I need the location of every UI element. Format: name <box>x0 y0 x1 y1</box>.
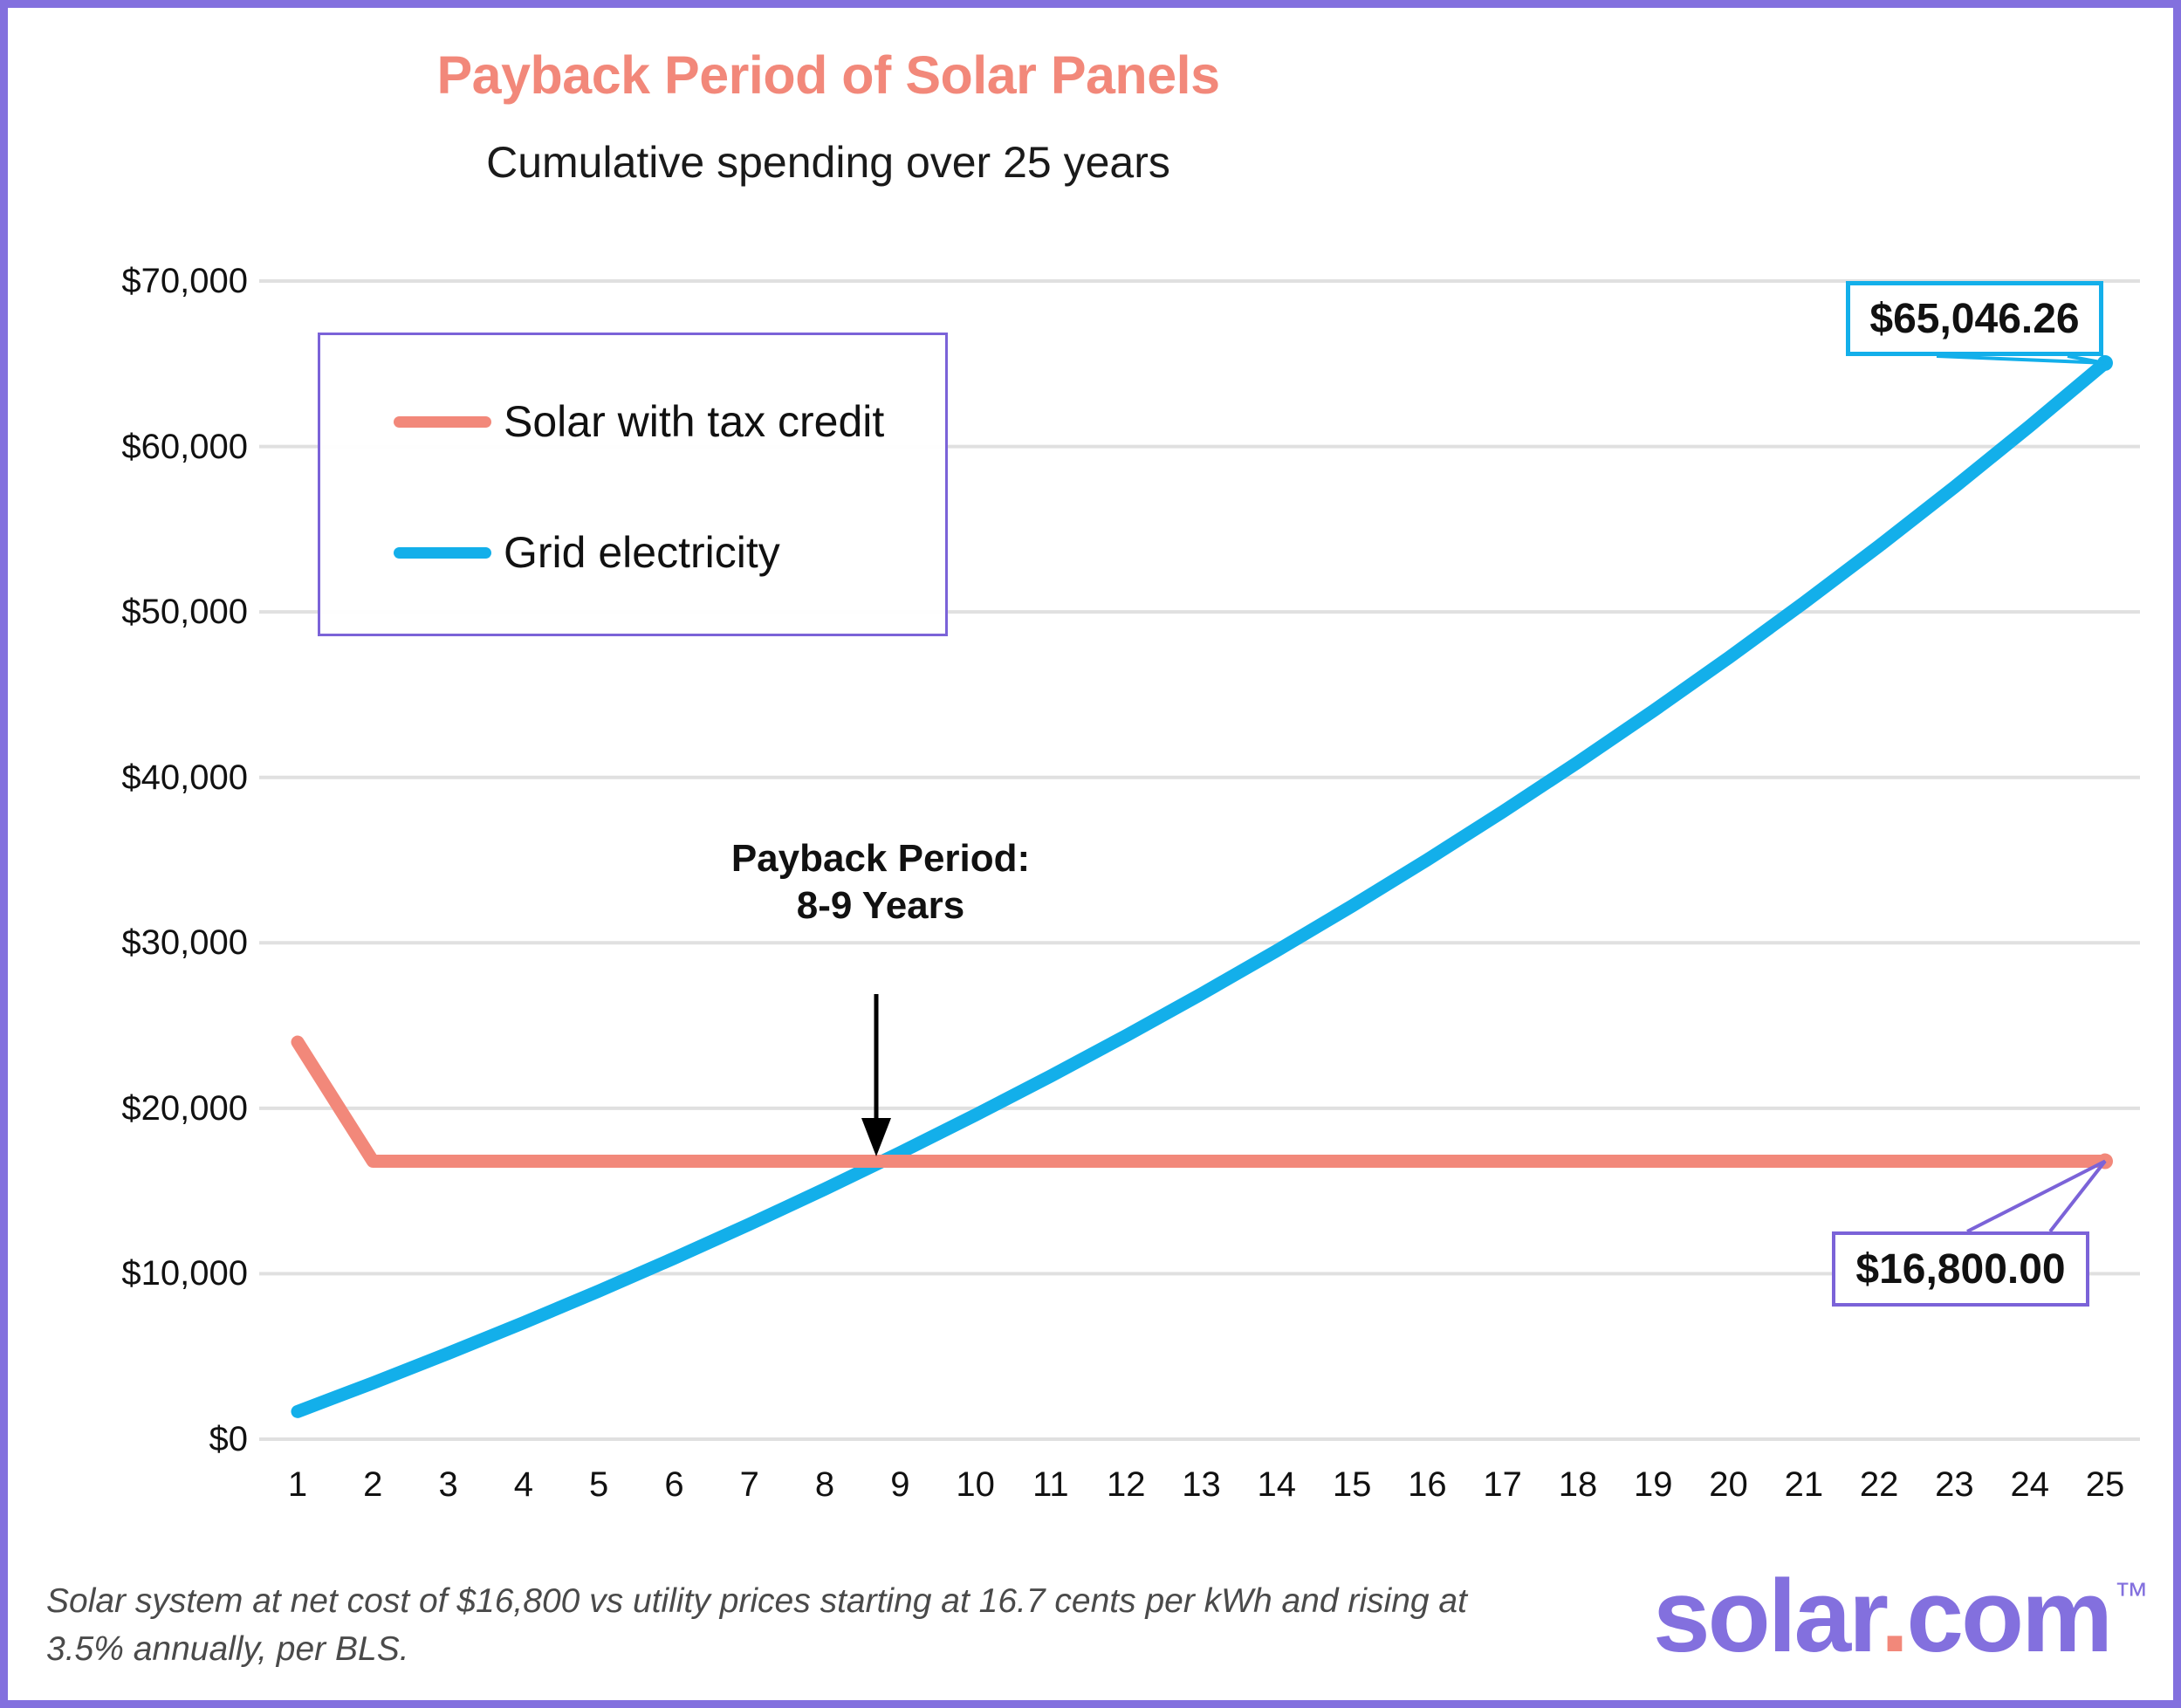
x-tick-label: 22 <box>1844 1465 1914 1505</box>
callout-solar-total: $16,800.00 <box>1832 1231 2089 1307</box>
x-tick-label: 20 <box>1694 1465 1764 1505</box>
y-tick-label: $10,000 <box>34 1256 248 1291</box>
x-tick-label: 24 <box>1995 1465 2065 1505</box>
y-tick-label: $40,000 <box>34 760 248 795</box>
x-tick-label: 17 <box>1468 1465 1538 1505</box>
y-tick-label: $70,000 <box>34 264 248 298</box>
chart-canvas: Payback Period of Solar Panels Cumulativ… <box>0 0 2181 1708</box>
y-tick-label: $0 <box>34 1422 248 1457</box>
legend-label-grid: Grid electricity <box>504 527 780 578</box>
payback-arrow-icon <box>861 994 891 1156</box>
legend-item-grid[interactable]: Grid electricity <box>394 527 780 578</box>
x-tick-label: 19 <box>1618 1465 1688 1505</box>
logo-wordmark: solar.com <box>1653 1567 2110 1665</box>
logo-text-solar: solar <box>1653 1559 1881 1674</box>
y-tick-label: $50,000 <box>34 594 248 629</box>
x-tick-label: 11 <box>1016 1465 1086 1505</box>
x-tick-label: 7 <box>715 1465 785 1505</box>
solar-com-logo[interactable]: solar.com ™ <box>1653 1567 2149 1665</box>
x-tick-label: 4 <box>489 1465 559 1505</box>
x-tick-label: 15 <box>1317 1465 1387 1505</box>
y-tick-label: $30,000 <box>34 925 248 960</box>
callout-grid-total: $65,046.26 <box>1846 281 2103 356</box>
x-tick-label: 3 <box>414 1465 484 1505</box>
payback-period-annotation: Payback Period: 8-9 Years <box>671 835 1090 929</box>
legend-label-solar: Solar with tax credit <box>504 396 884 447</box>
x-tick-label: 21 <box>1769 1465 1839 1505</box>
x-tick-label: 16 <box>1392 1465 1462 1505</box>
logo-trademark-icon: ™ <box>2114 1576 2149 1615</box>
x-tick-label: 9 <box>865 1465 935 1505</box>
x-tick-label: 5 <box>564 1465 634 1505</box>
payback-period-line2: 8-9 Years <box>671 882 1090 929</box>
x-tick-label: 13 <box>1167 1465 1237 1505</box>
series-line-solar-with-tax-credit <box>298 1042 2105 1161</box>
legend-swatch-grid <box>394 547 491 559</box>
logo-text-com: com <box>1906 1559 2110 1674</box>
x-tick-label: 1 <box>263 1465 333 1505</box>
x-tick-label: 10 <box>941 1465 1011 1505</box>
plot-svg <box>8 8 2181 1708</box>
x-tick-label: 18 <box>1543 1465 1613 1505</box>
x-tick-label: 14 <box>1242 1465 1312 1505</box>
x-tick-label: 25 <box>2070 1465 2140 1505</box>
y-tick-label: $20,000 <box>34 1091 248 1126</box>
x-tick-label: 23 <box>1919 1465 1989 1505</box>
callout-leader-solar <box>1967 1162 2105 1231</box>
y-tick-label: $60,000 <box>34 429 248 464</box>
legend-swatch-solar <box>394 416 491 428</box>
callout-leader-grid <box>1937 356 2105 363</box>
x-tick-label: 8 <box>790 1465 860 1505</box>
chart-legend[interactable]: Solar with tax credit Grid electricity <box>318 333 948 636</box>
x-tick-label: 2 <box>338 1465 408 1505</box>
x-tick-label: 12 <box>1091 1465 1161 1505</box>
x-tick-label: 6 <box>639 1465 709 1505</box>
footnote-text: Solar system at net cost of $16,800 vs u… <box>46 1577 1530 1674</box>
payback-period-line1: Payback Period: <box>671 835 1090 882</box>
logo-dot: . <box>1881 1559 1907 1674</box>
legend-item-solar[interactable]: Solar with tax credit <box>394 396 884 447</box>
